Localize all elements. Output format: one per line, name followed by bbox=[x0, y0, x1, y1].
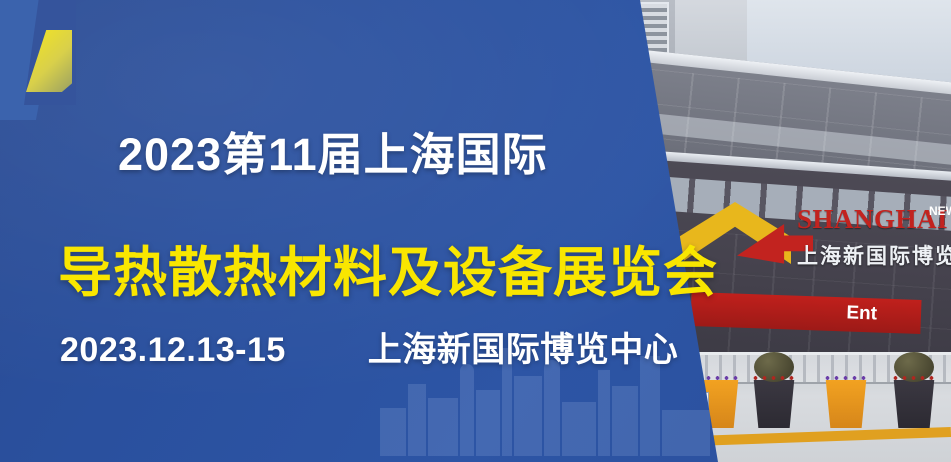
logo-brand-subtext: NEW EXPO bbox=[929, 204, 951, 218]
logo-brand-chinese: 上海新国际博览 bbox=[797, 240, 951, 270]
planter bbox=[823, 380, 869, 428]
event-date: 2023.12.13-15 bbox=[60, 331, 286, 369]
planter bbox=[751, 380, 797, 428]
headline-copy: 2023第11届上海国际 导热散热材料及设备展览会 2023.12.13-15 … bbox=[0, 0, 700, 462]
logo-brand-text: SHANGHAI bbox=[797, 204, 948, 235]
exhibition-banner: SHANGHAI NEW EXPO 上海新国际博览 Ent bbox=[0, 0, 951, 462]
flower-bed bbox=[891, 374, 937, 382]
event-title: 导热散热材料及设备展览会 bbox=[58, 228, 718, 307]
sniec-logo: SHANGHAI NEW EXPO 上海新国际博览 bbox=[679, 196, 947, 274]
date-venue-line: 2023.12.13-15 上海新国际博览中心 bbox=[60, 322, 678, 371]
flower-bed bbox=[751, 374, 797, 382]
entrance-label: Ent bbox=[846, 302, 877, 325]
edition-line: 2023第11届上海国际 bbox=[118, 118, 548, 183]
flower-bed bbox=[823, 374, 869, 382]
planter bbox=[891, 380, 937, 428]
event-venue: 上海新国际博览中心 bbox=[368, 331, 679, 369]
